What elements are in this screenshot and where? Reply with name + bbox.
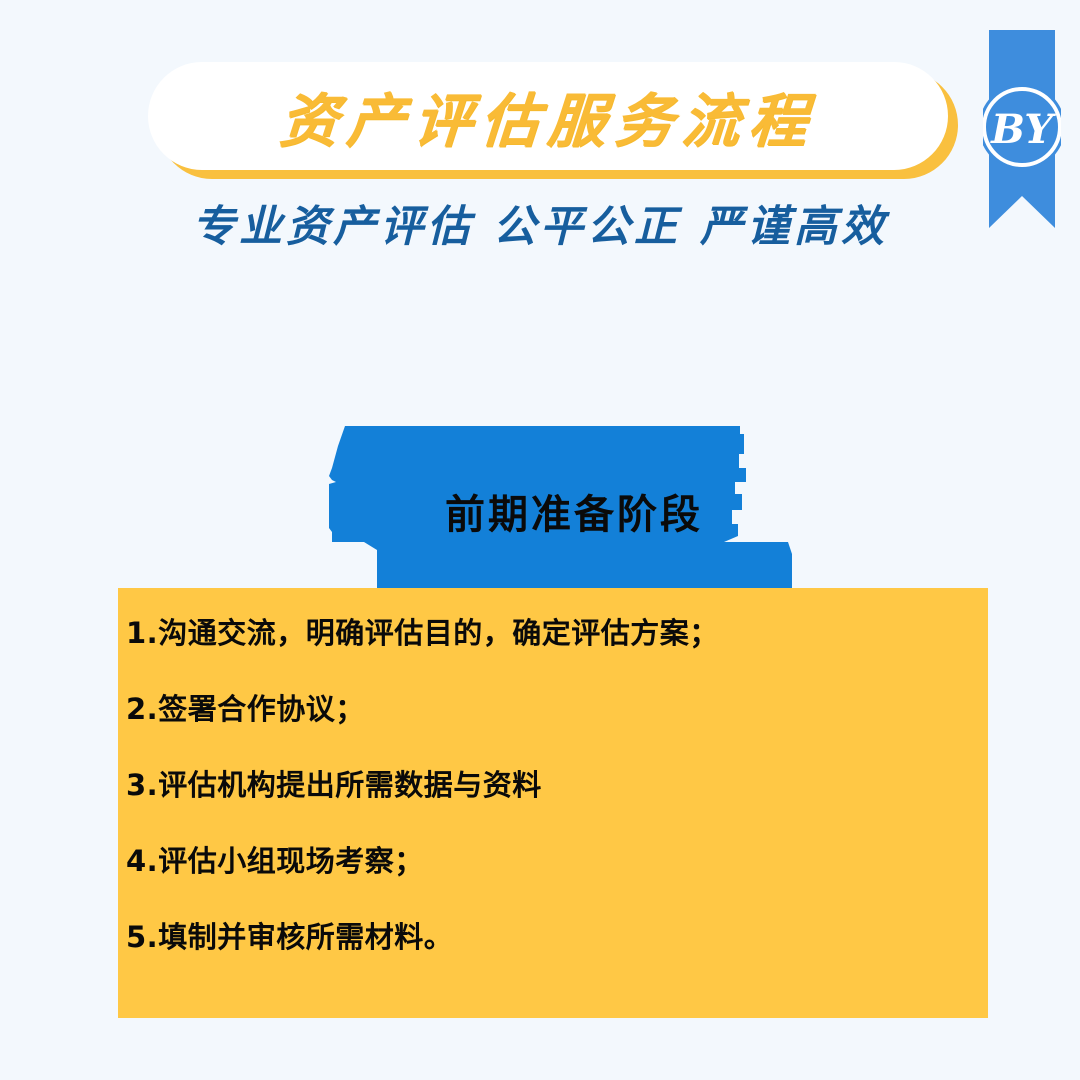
steps-list: 1.沟通交流，明确评估目的，确定评估方案； 2.签署合作协议； 3.评估机构提出…	[126, 618, 966, 953]
list-item: 3.评估机构提出所需数据与资料	[126, 770, 966, 802]
list-item: 1.沟通交流，明确评估目的，确定评估方案；	[126, 618, 966, 650]
stage-title: 前期准备阶段	[445, 482, 703, 540]
steps-card: 1.沟通交流，明确评估目的，确定评估方案； 2.签署合作协议； 3.评估机构提出…	[118, 588, 988, 1018]
list-item: 4.评估小组现场考察；	[126, 846, 966, 878]
stage-banner: 前期准备阶段	[320, 424, 800, 592]
badge-label: BY	[990, 106, 1056, 153]
title-banner: 资产评估服务流程	[148, 62, 948, 170]
list-item: 2.签署合作协议；	[126, 694, 966, 726]
page-subtitle: 专业资产评估 公平公正 严谨高效	[0, 192, 1080, 254]
title-pill: 资产评估服务流程	[148, 62, 948, 170]
page-title: 资产评估服务流程	[277, 74, 819, 158]
poster-canvas: 资产评估服务流程 BY 专业资产评估 公平公正 严谨高效 前期准备阶段 1.沟通…	[0, 0, 1080, 1080]
list-item: 5.填制并审核所需材料。	[126, 922, 966, 954]
stage-title-wrap: 前期准备阶段	[320, 424, 800, 592]
